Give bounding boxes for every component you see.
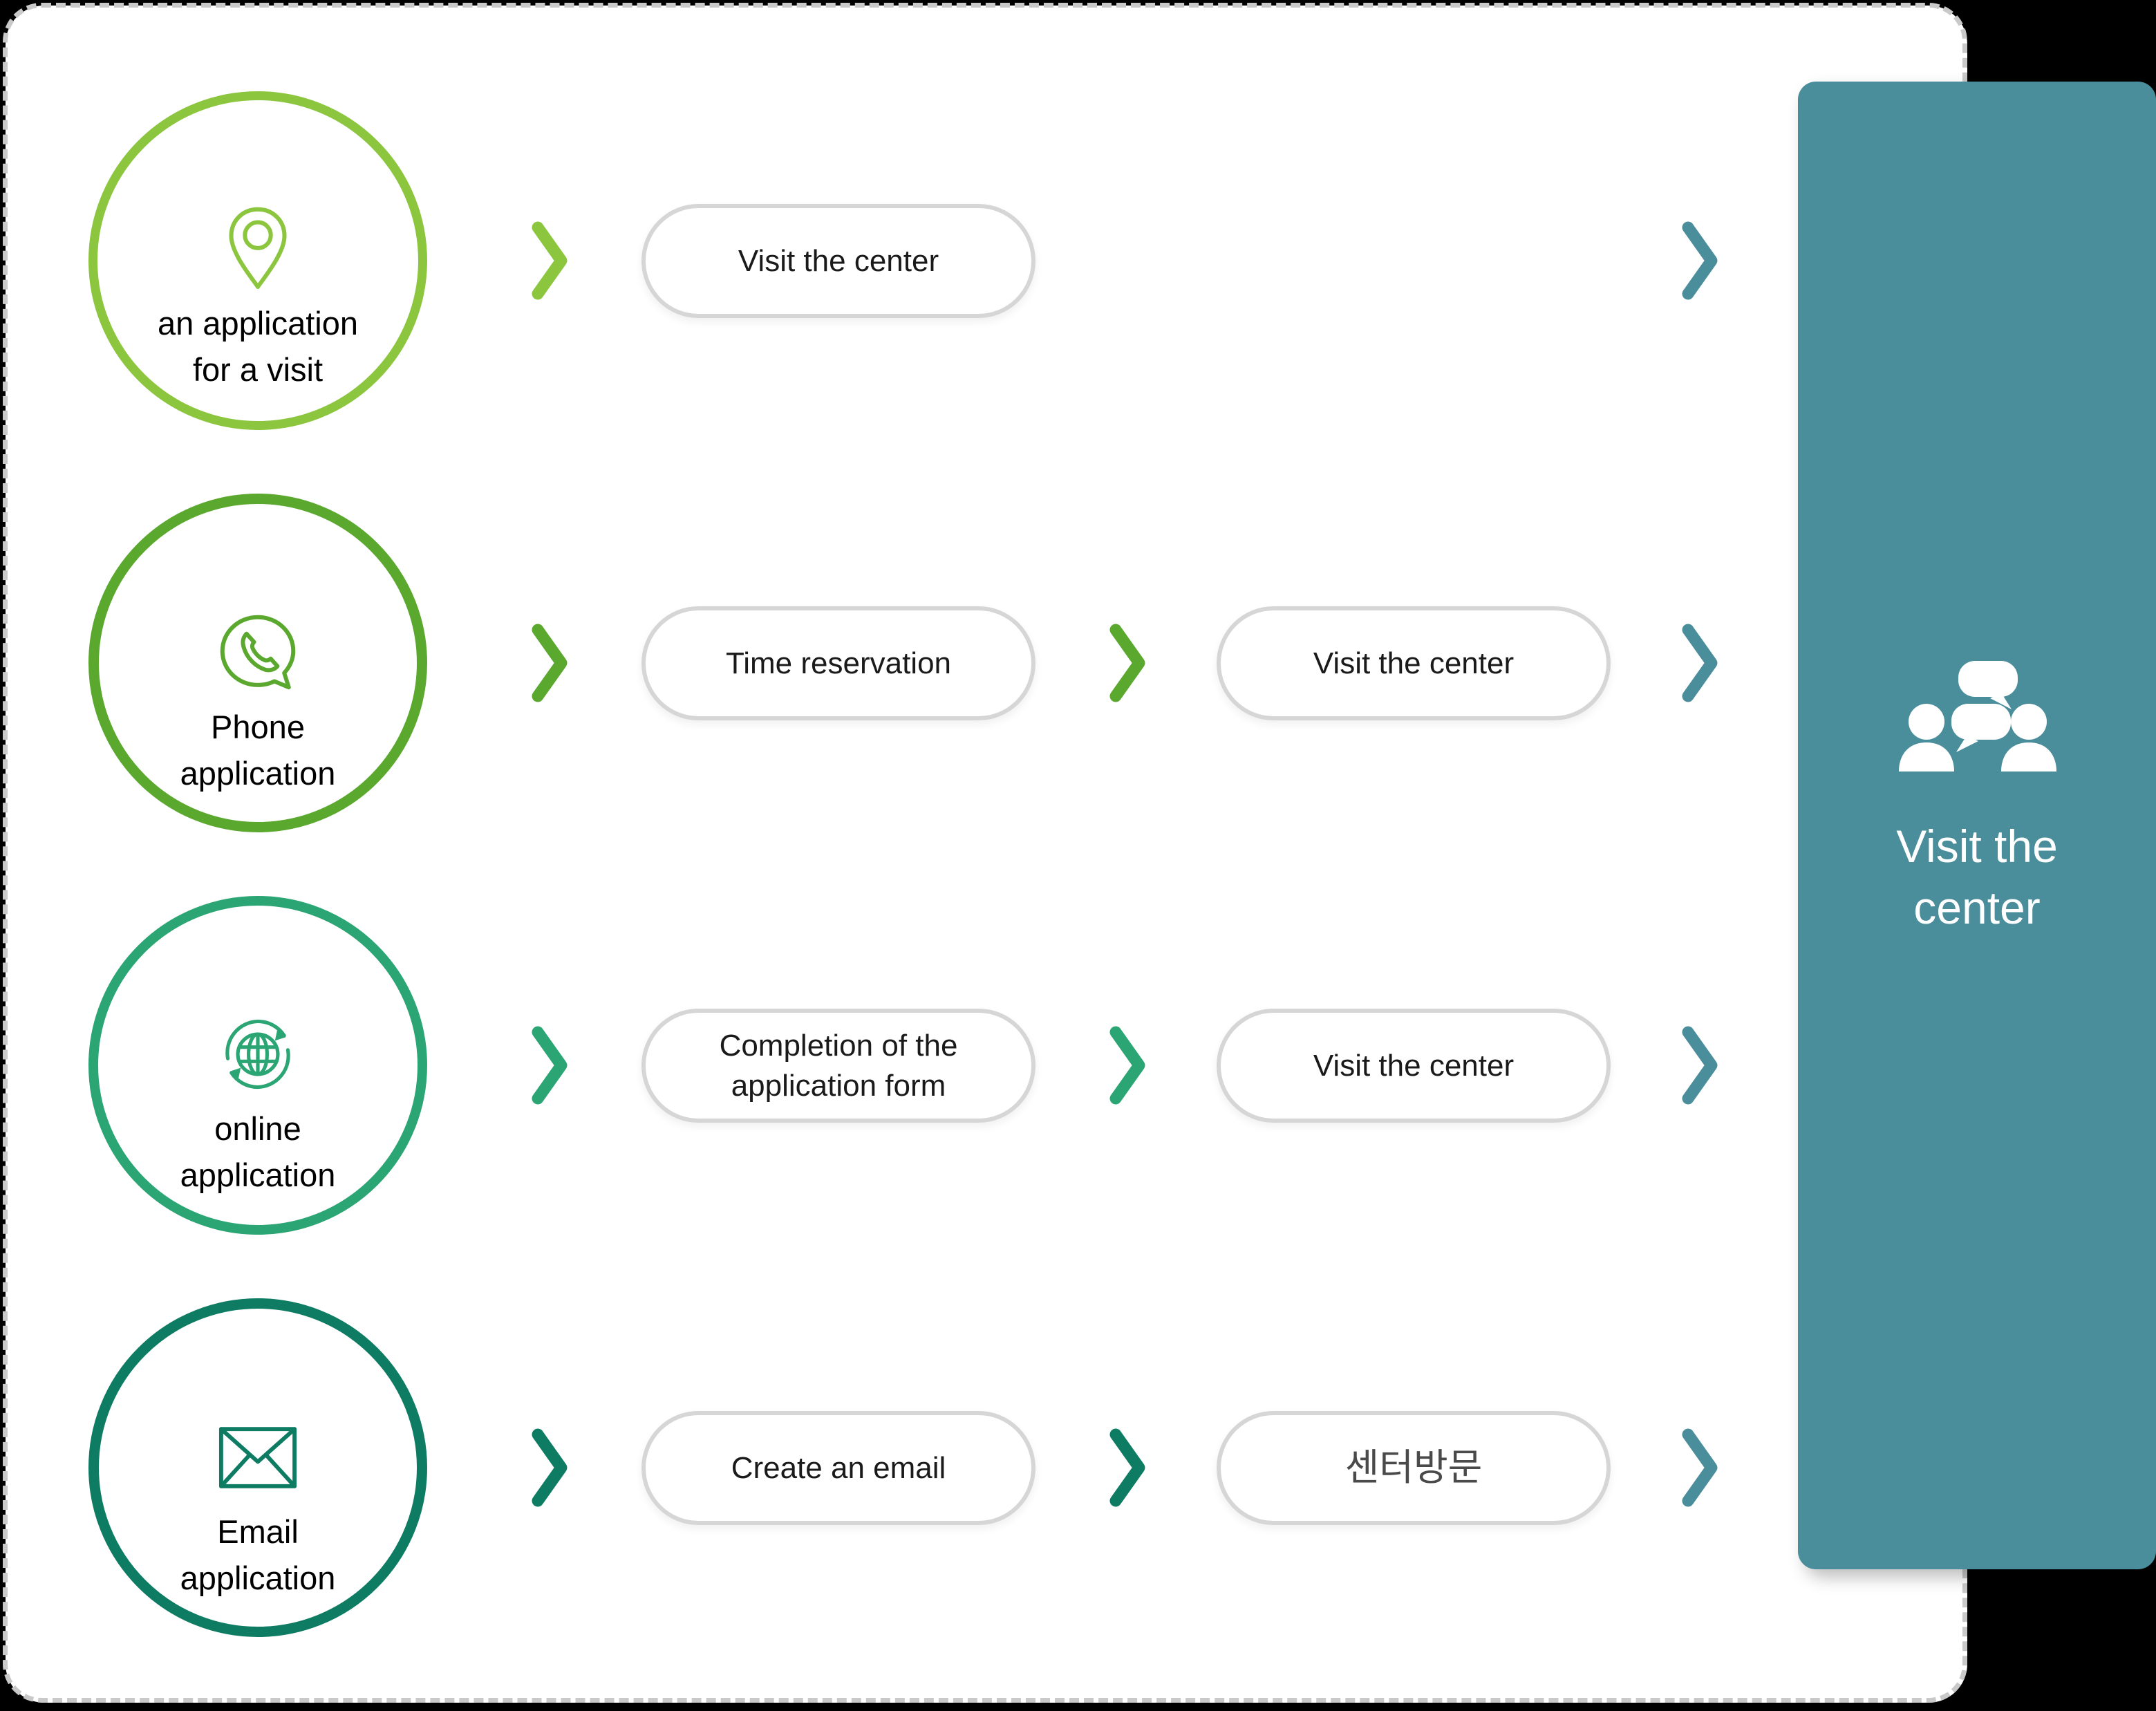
chevron-right-icon <box>525 1024 574 1107</box>
step-pill[interactable]: Completion of the application form <box>641 1009 1035 1123</box>
envelope-icon <box>213 1412 303 1502</box>
step-pill[interactable]: Visit the center <box>1217 606 1611 720</box>
step-pill[interactable]: Visit the center <box>641 204 1035 318</box>
circle-label: Email application <box>71 1509 444 1601</box>
circle-node-online-application[interactable]: online application <box>88 896 427 1235</box>
circle-node-application-for-a-visit[interactable]: an application for a visit <box>88 91 427 430</box>
chevron-right-icon <box>1676 219 1724 302</box>
circle-label: online application <box>71 1106 445 1198</box>
chevron-right-icon <box>525 1426 574 1509</box>
step-pill[interactable]: Create an email <box>641 1411 1035 1525</box>
group-discussion-icon <box>1897 655 2056 780</box>
circle-node-phone-application[interactable]: Phone application <box>88 494 427 832</box>
circle-label: Phone application <box>71 704 444 796</box>
step-pill[interactable]: Visit the center <box>1217 1009 1611 1123</box>
flow-row-online-application: online application Completion of the app… <box>0 879 1770 1225</box>
chevron-right-icon <box>1103 1024 1152 1107</box>
chevron-right-icon <box>525 621 574 704</box>
chevron-right-icon <box>1103 621 1152 704</box>
panel-label: Visit the center <box>1798 816 2156 939</box>
chevron-right-icon <box>1676 621 1724 704</box>
circle-node-email-application[interactable]: Email application <box>88 1298 427 1637</box>
location-pin-icon <box>213 204 303 294</box>
step-pill[interactable]: 센터방문 <box>1217 1411 1611 1525</box>
globe-refresh-icon <box>213 1009 303 1099</box>
chevron-right-icon <box>1103 1426 1152 1509</box>
chevron-right-icon <box>1676 1426 1724 1509</box>
diagram-canvas: an application for a visit Visit the cen… <box>0 0 2156 1711</box>
flow-row-application-for-a-visit: an application for a visit Visit the cen… <box>0 75 1770 420</box>
flow-row-email-application: Email application Create an email 센터방문 <box>0 1282 1770 1627</box>
chevron-right-icon <box>525 219 574 302</box>
circle-label: an application for a visit <box>70 301 446 393</box>
step-pill[interactable]: Time reservation <box>641 606 1035 720</box>
chevron-right-icon <box>1676 1024 1724 1107</box>
visit-the-center-panel[interactable]: Visit the center <box>1798 82 2156 1569</box>
flow-row-phone-application: Phone application Time reservation Visit… <box>0 477 1770 823</box>
phone-speech-bubble-icon <box>213 608 303 698</box>
